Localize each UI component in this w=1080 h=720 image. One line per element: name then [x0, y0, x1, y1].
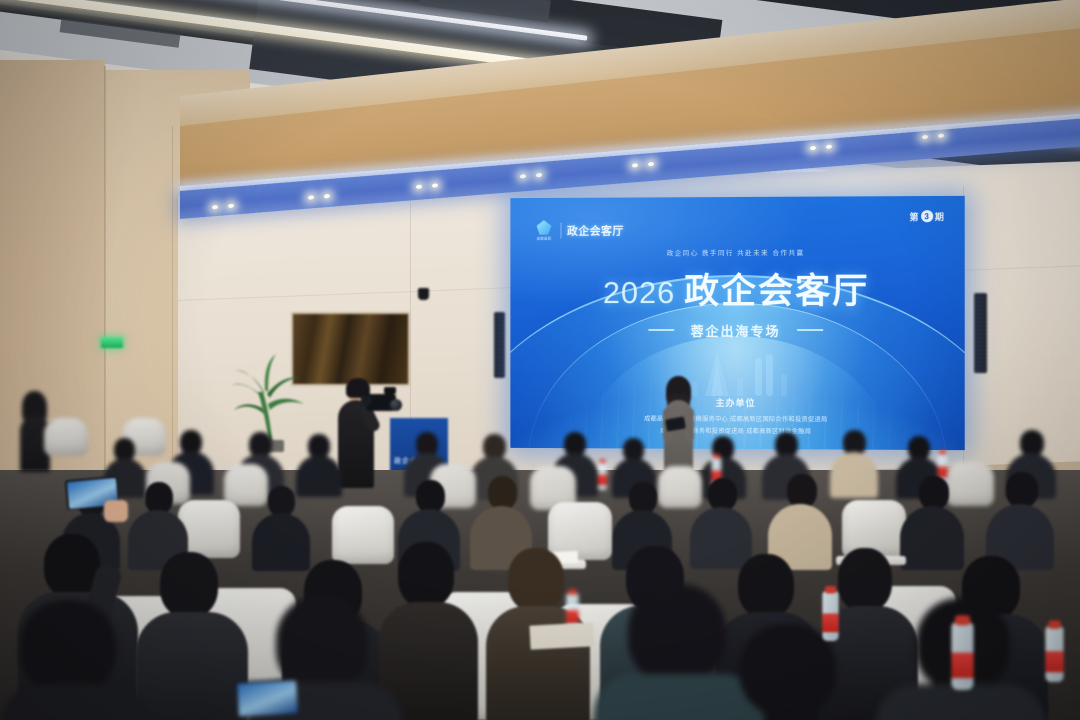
camera-operator: [334, 378, 392, 488]
wall-speaker-right: [974, 293, 987, 373]
water-bottle: [1045, 626, 1063, 682]
issue-suffix: 期: [935, 210, 944, 223]
screen-headline-row: 2026 政企会客厅: [603, 262, 870, 313]
host-with-tablet: [658, 378, 698, 478]
screen-subtitle: 蓉企出海专场: [691, 321, 781, 340]
ceiling-camera-icon: [418, 288, 429, 300]
issue-prefix: 第: [909, 210, 918, 223]
rule-left: [649, 329, 675, 331]
attendee-foreground: [690, 624, 880, 720]
chair: [44, 418, 88, 456]
screen-organizer-label: 主办单位: [510, 395, 964, 409]
screen-year: 2026: [603, 275, 675, 311]
handout-paper: [529, 622, 594, 649]
screen-logo-lockup: 成都高新 政企会客厅: [534, 219, 624, 243]
led-screen: 成都高新 政企会客厅 第 3 期 政企同心 携手同行 共赴未来 合作共赢 202…: [510, 196, 964, 450]
attendee-foreground: [0, 600, 150, 720]
exit-sign: [101, 337, 123, 348]
attendee: [136, 552, 248, 720]
rule-right: [797, 329, 823, 331]
district-logo-icon: 成都高新: [534, 219, 555, 243]
water-bottle: [598, 462, 607, 490]
logo-divider: [560, 223, 561, 239]
smartphone: [235, 678, 299, 717]
screen-subtitle-row: 蓉企出海专场: [510, 320, 964, 339]
screen-title-block: 政企同心 携手同行 共赴未来 合作共赢 2026 政企会客厅 蓉企出海专场: [510, 262, 964, 340]
screen-headline: 政企会客厅: [684, 262, 869, 313]
wall-display: [291, 312, 410, 386]
water-bottle: [951, 622, 973, 690]
screen-issue-badge: 第 3 期: [909, 210, 943, 223]
video-camera: [366, 394, 396, 411]
screen-brand-word: 政企会客厅: [567, 223, 624, 239]
conference-hall-photo: 政企会客厅 成都高新 政企会客厅 第 3 期 政企同心 携手同行 共赴未来 合作…: [0, 0, 1080, 720]
screen-kicker: 政企同心 携手同行 共赴未来 合作共赢: [667, 246, 805, 256]
screen-organizer-line-1: 成都高新区对外联络服务中心 成都高新区国际合作和投资促进局: [510, 413, 964, 424]
logo-caption: 成都高新: [534, 236, 555, 243]
wall-speaker-left: [494, 312, 505, 378]
water-bottle: [822, 591, 838, 641]
issue-number: 3: [921, 210, 933, 222]
